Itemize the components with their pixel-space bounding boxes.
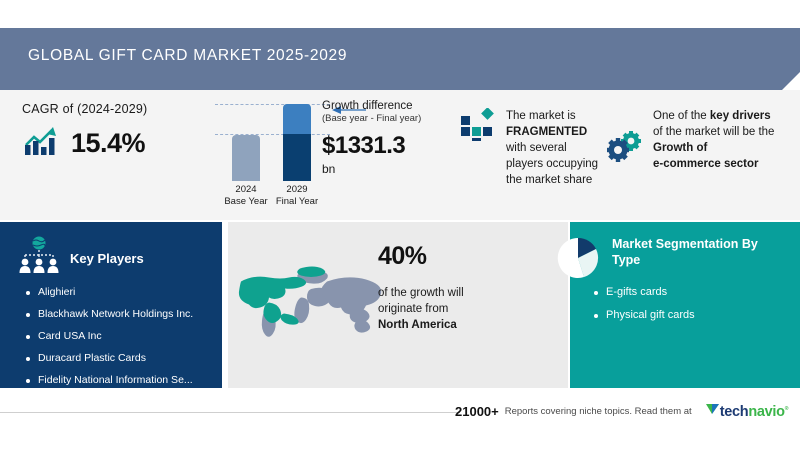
footer-divider <box>0 412 460 413</box>
growth-difference-block: Growth difference (Base year - Final yea… <box>322 99 472 176</box>
segmentation-list: E-gifts cards Physical gift cards <box>594 286 784 332</box>
growth-difference-value: $1331.3 <box>322 132 472 160</box>
technavio-wordmark: technavio® <box>720 404 788 420</box>
bullet-icon <box>26 335 30 339</box>
key-drivers-block: One of the key drivers of the market wil… <box>605 108 795 172</box>
gridline-base-year <box>215 134 330 135</box>
growth-difference-subtitle: (Base year - Final year) <box>322 113 472 125</box>
bullet-icon <box>26 357 30 361</box>
bullet-icon <box>26 313 30 317</box>
growth-difference-unit: bn <box>322 162 472 176</box>
bullet-icon <box>26 379 30 383</box>
key-players-title: Key Players <box>70 251 144 266</box>
squares-grid-icon <box>460 108 496 188</box>
bullet-icon <box>26 291 30 295</box>
cagr-value: 15.4% <box>71 128 145 159</box>
infographic-page: GLOBAL GIFT CARD MARKET 2025-2029 CAGR o… <box>0 0 800 450</box>
bar-label-2024: 2024 Base Year <box>220 184 272 208</box>
report-count: 21000+ <box>455 404 499 419</box>
segmentation-header: Market Segmentation By Type <box>570 236 762 285</box>
key-players-header: Key Players <box>18 236 144 281</box>
list-item: Duracard Plastic Cards <box>26 352 221 365</box>
bullet-icon <box>594 314 598 318</box>
key-players-list: Alighieri Blackhawk Network Holdings Inc… <box>26 286 221 396</box>
list-item: Physical gift cards <box>594 309 784 322</box>
region-percent: 40% <box>378 242 528 271</box>
list-item: Card USA Inc <box>26 330 221 343</box>
technavio-mark-icon <box>706 402 720 421</box>
list-item: E-gifts cards <box>594 286 784 299</box>
footer-text: Reports covering niche topics. Read them… <box>505 406 692 417</box>
region-growth-block: 40% of the growth will originate from No… <box>378 242 528 333</box>
key-players-panel: Key Players Alighieri Blackhawk Network … <box>0 222 222 388</box>
bar-segment-growth-difference <box>283 104 311 134</box>
list-item: Fidelity National Information Se... <box>26 374 221 387</box>
bar-segment-base <box>283 134 311 181</box>
gears-icon <box>605 130 645 172</box>
world-map-icon <box>236 244 386 364</box>
bullet-icon <box>594 291 598 295</box>
bar-2029-final-year <box>283 104 311 181</box>
cagr-block: CAGR of (2024-2029) 15.4% <box>22 102 207 162</box>
market-fragmentation-text: The market is FRAGMENTED with several pl… <box>506 108 598 188</box>
pie-chart-icon <box>552 236 604 285</box>
region-panel: 40% of the growth will originate from No… <box>228 222 568 388</box>
growth-bar-chart: 2024 Base Year 2029 Final Year <box>215 98 330 200</box>
bar-2024-base-year <box>232 135 260 181</box>
list-item: Alighieri <box>26 286 221 299</box>
technavio-logo[interactable]: technavio® <box>706 402 788 421</box>
segmentation-panel: Market Segmentation By Type E-gifts card… <box>570 222 800 388</box>
list-item: Blackhawk Network Holdings Inc. <box>26 308 221 321</box>
cagr-label: CAGR of (2024-2029) <box>22 102 207 116</box>
growth-difference-title: Growth difference <box>322 99 472 113</box>
bar-chart-growth-icon <box>22 125 62 162</box>
key-drivers-text: One of the key drivers of the market wil… <box>653 108 774 172</box>
market-fragmentation-block: The market is FRAGMENTED with several pl… <box>460 108 610 188</box>
page-title: GLOBAL GIFT CARD MARKET 2025-2029 <box>28 47 347 65</box>
header-banner: GLOBAL GIFT CARD MARKET 2025-2029 <box>0 28 800 90</box>
gridline-final-year <box>215 104 330 105</box>
region-description: of the growth will originate from North … <box>378 285 528 333</box>
bar-label-2029: 2029 Final Year <box>271 184 323 208</box>
segmentation-title: Market Segmentation By Type <box>612 236 762 268</box>
org-chart-globe-icon <box>18 236 60 281</box>
footer: 21000+ Reports covering niche topics. Re… <box>455 402 788 421</box>
